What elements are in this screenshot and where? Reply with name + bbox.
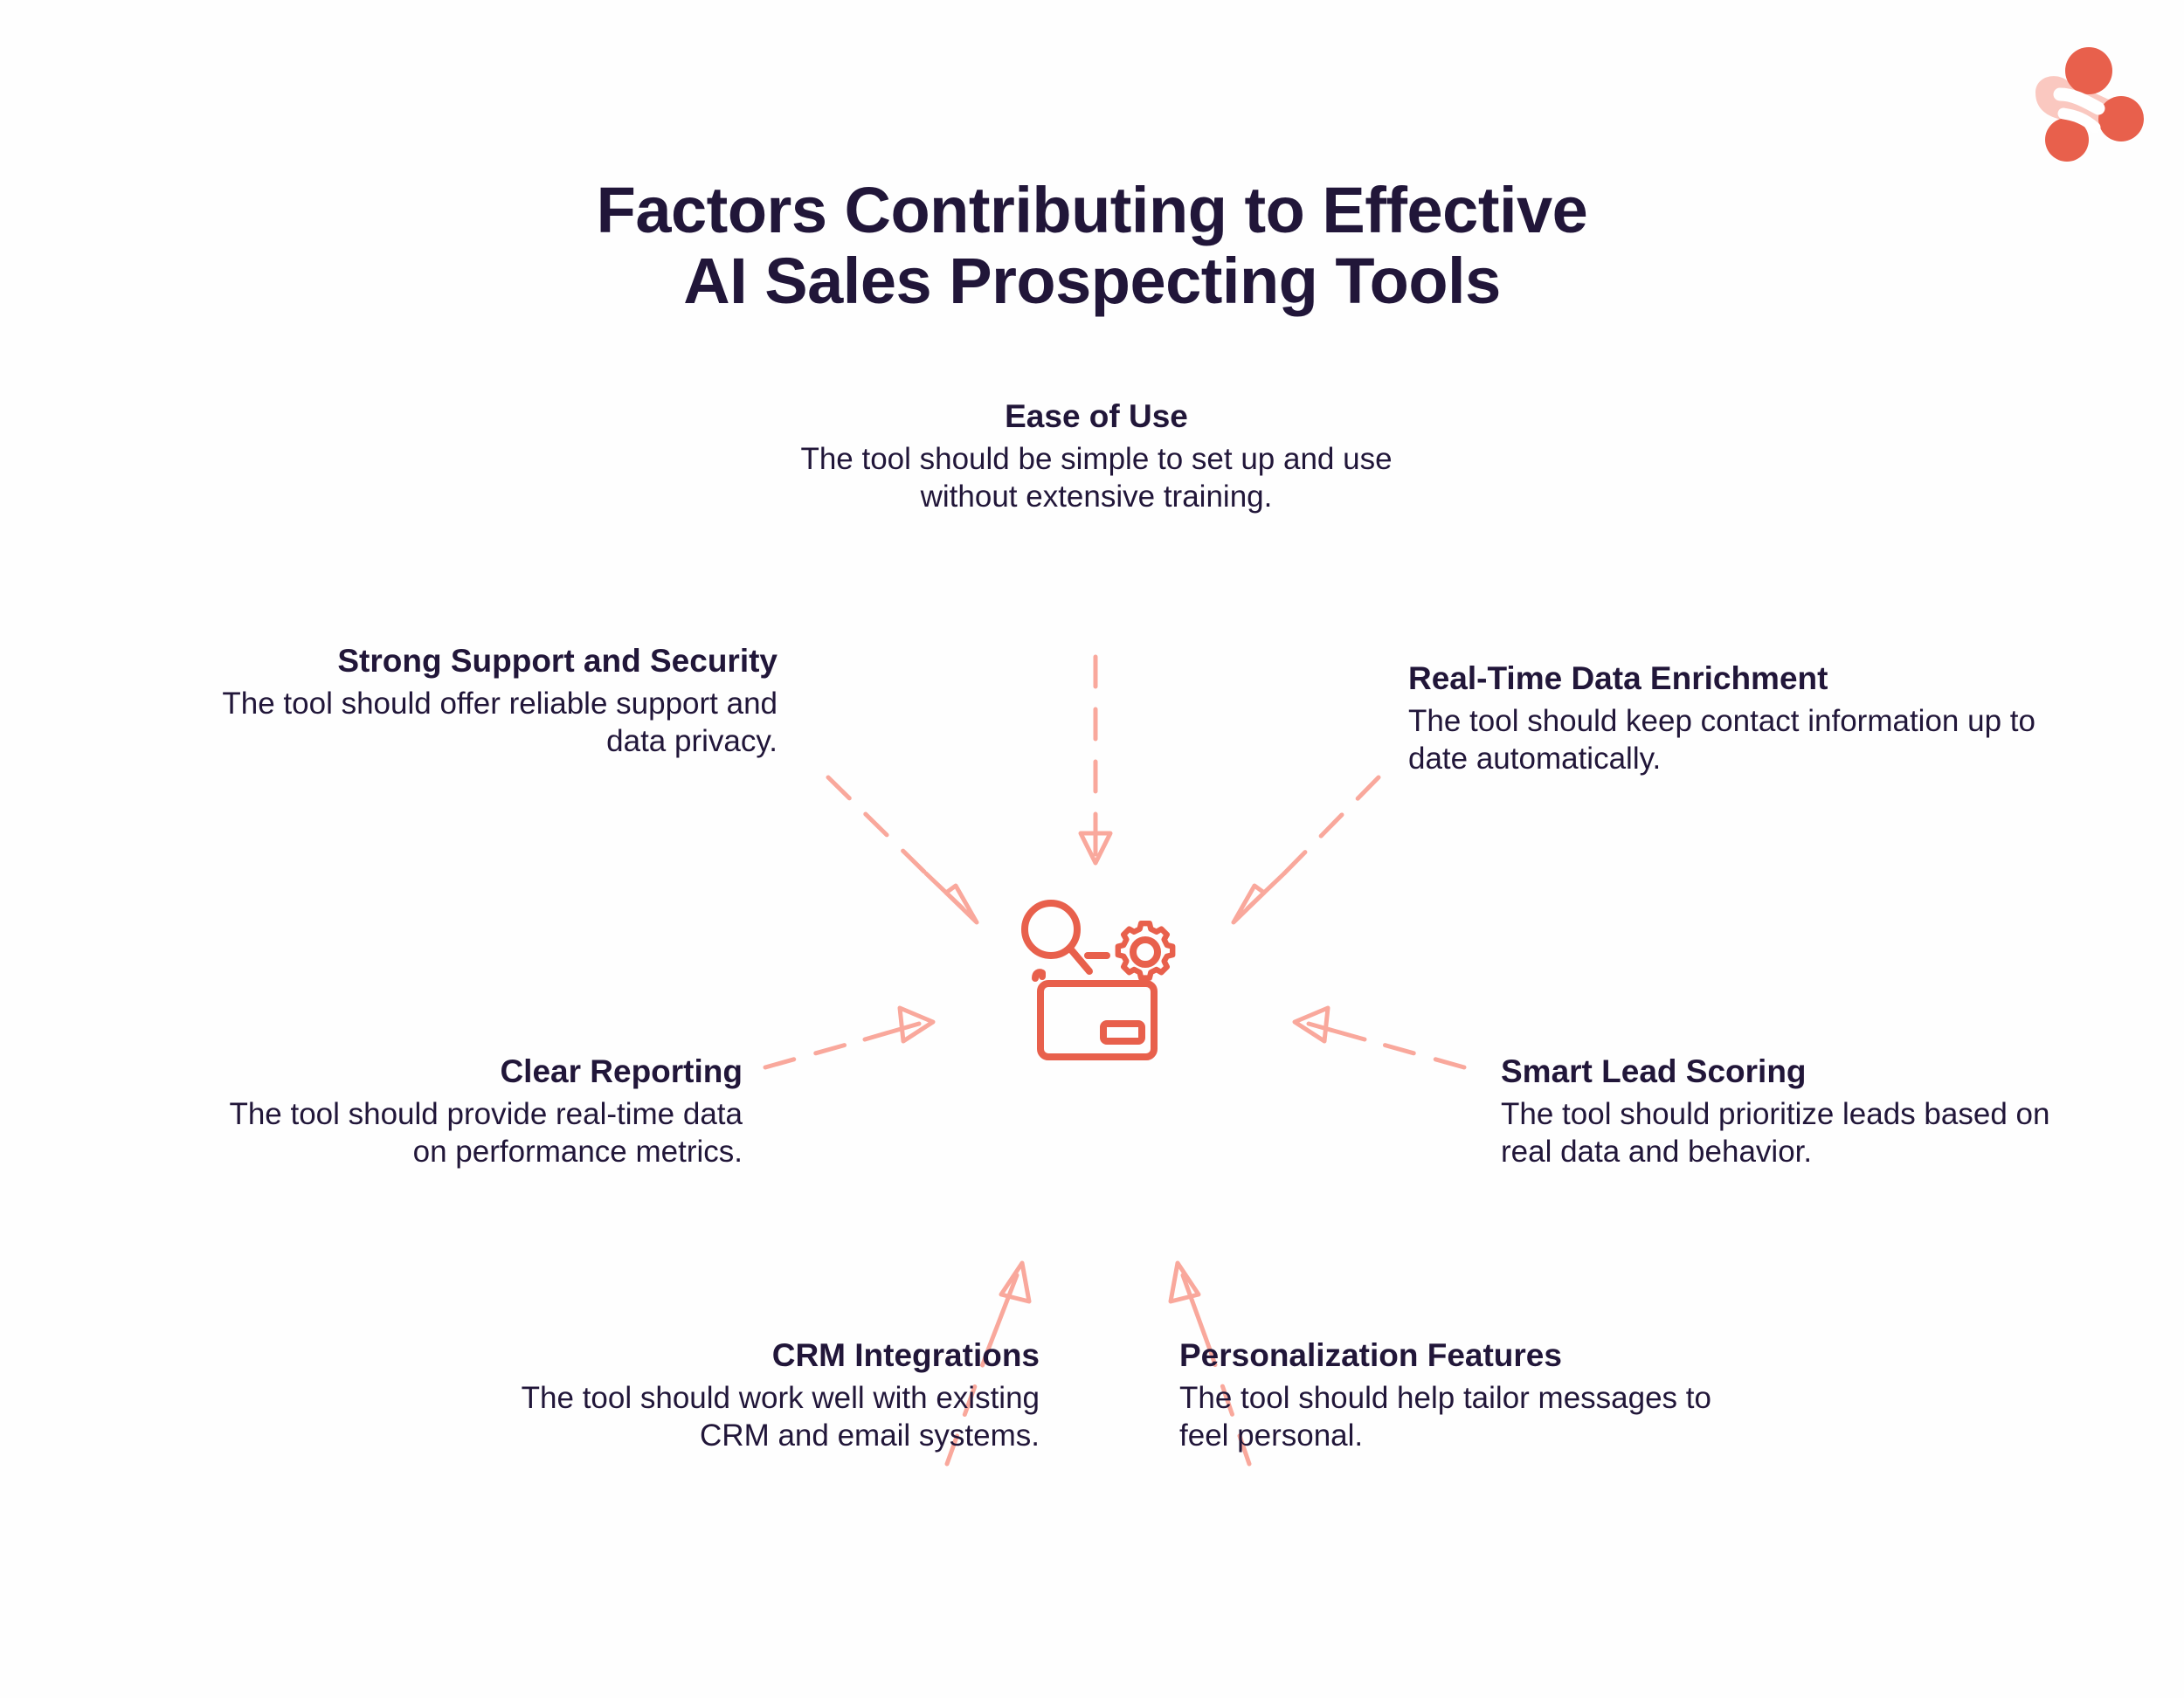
page-title: Factors Contributing to Effective AI Sal…: [0, 175, 2184, 317]
arrow-support-security: [828, 777, 977, 922]
factor-description: The tool should be simple to set up and …: [786, 441, 1406, 515]
factor-crm-integrations: CRM Integrations The tool should work we…: [476, 1336, 1040, 1455]
page-title-line-1: Factors Contributing to Effective: [0, 175, 2184, 245]
arrow-lead-scoring: [1295, 1008, 1464, 1067]
factor-title: Smart Lead Scoring: [1501, 1053, 2060, 1091]
factor-description: The tool should help tailor messages to …: [1179, 1380, 1721, 1454]
factor-description: The tool should provide real-time data o…: [218, 1096, 743, 1170]
infographic-canvas: Factors Contributing to Effective AI Sal…: [0, 0, 2184, 1698]
factor-strong-support-and-security: Strong Support and Security The tool sho…: [157, 642, 778, 761]
factor-personalization-features: Personalization Features The tool should…: [1179, 1336, 1721, 1455]
factor-real-time-data-enrichment: Real-Time Data Enrichment The tool shoul…: [1408, 659, 2055, 778]
arrow-data-enrichment: [1234, 777, 1379, 922]
factor-description: The tool should offer reliable support a…: [157, 686, 778, 760]
factor-title: Ease of Use: [786, 397, 1406, 436]
factor-ease-of-use: Ease of Use The tool should be simple to…: [786, 397, 1406, 516]
factor-description: The tool should prioritize leads based o…: [1501, 1096, 2060, 1170]
arrow-ease-of-use: [1081, 657, 1110, 863]
factor-description: The tool should work well with existing …: [476, 1380, 1040, 1454]
factor-smart-lead-scoring: Smart Lead Scoring The tool should prior…: [1501, 1053, 2060, 1171]
factor-clear-reporting: Clear Reporting The tool should provide …: [218, 1053, 743, 1171]
factor-description: The tool should keep contact information…: [1408, 703, 2055, 777]
network-nodes-logo: [2025, 42, 2156, 164]
factor-title: Real-Time Data Enrichment: [1408, 659, 2055, 698]
factor-title: Strong Support and Security: [157, 642, 778, 680]
page-title-line-2: AI Sales Prospecting Tools: [0, 245, 2184, 316]
arrow-clear-reporting: [765, 1008, 933, 1067]
search-settings-card-icon: [1016, 893, 1208, 1085]
factor-title: Clear Reporting: [218, 1053, 743, 1091]
factor-title: CRM Integrations: [476, 1336, 1040, 1375]
factor-title: Personalization Features: [1179, 1336, 1721, 1375]
